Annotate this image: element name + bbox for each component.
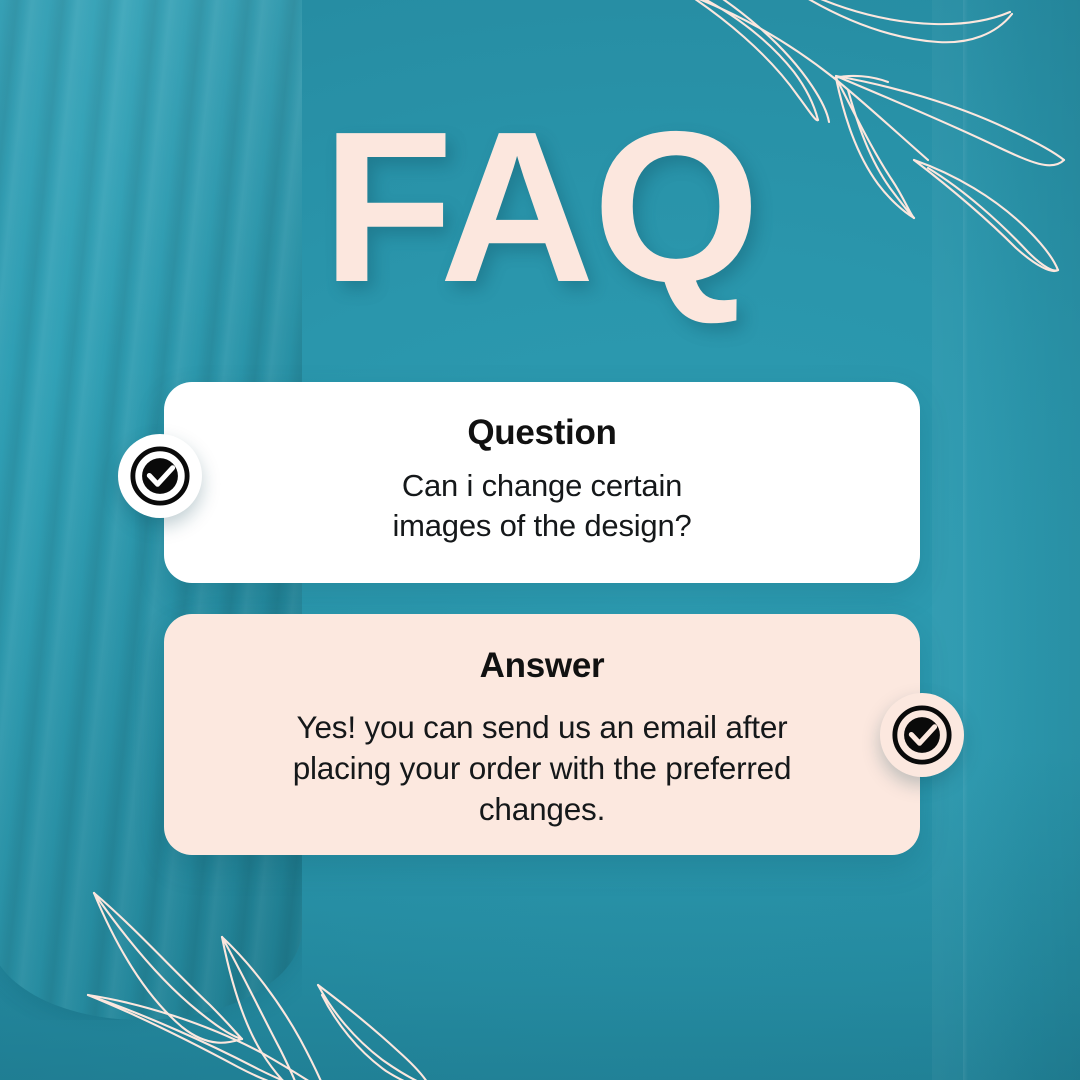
faq-slide: FAQ Question Can i change certain images… xyxy=(0,0,1080,1080)
question-card-heading: Question xyxy=(212,415,872,452)
question-card: Question Can i change certain images of … xyxy=(164,382,920,583)
answer-card-body-line: changes. xyxy=(208,789,876,830)
question-check-badge xyxy=(118,434,202,518)
question-card-body-line: Can i change certain xyxy=(212,466,872,506)
answer-card-body-line: Yes! you can send us an email after xyxy=(208,707,876,748)
check-circle-icon xyxy=(891,704,953,766)
question-card-body-line: images of the design? xyxy=(212,506,872,546)
page-title: FAQ xyxy=(0,104,1080,310)
answer-card-heading: Answer xyxy=(208,648,876,685)
answer-card-body-line: placing your order with the preferred xyxy=(208,748,876,789)
check-circle-icon xyxy=(129,445,191,507)
answer-card: Answer Yes! you can send us an email aft… xyxy=(164,614,920,855)
leaf-branch-icon-bottom-left xyxy=(36,881,436,1080)
answer-card-body: Yes! you can send us an email after plac… xyxy=(208,707,876,831)
question-card-body: Can i change certain images of the desig… xyxy=(212,466,872,546)
answer-check-badge xyxy=(880,693,964,777)
